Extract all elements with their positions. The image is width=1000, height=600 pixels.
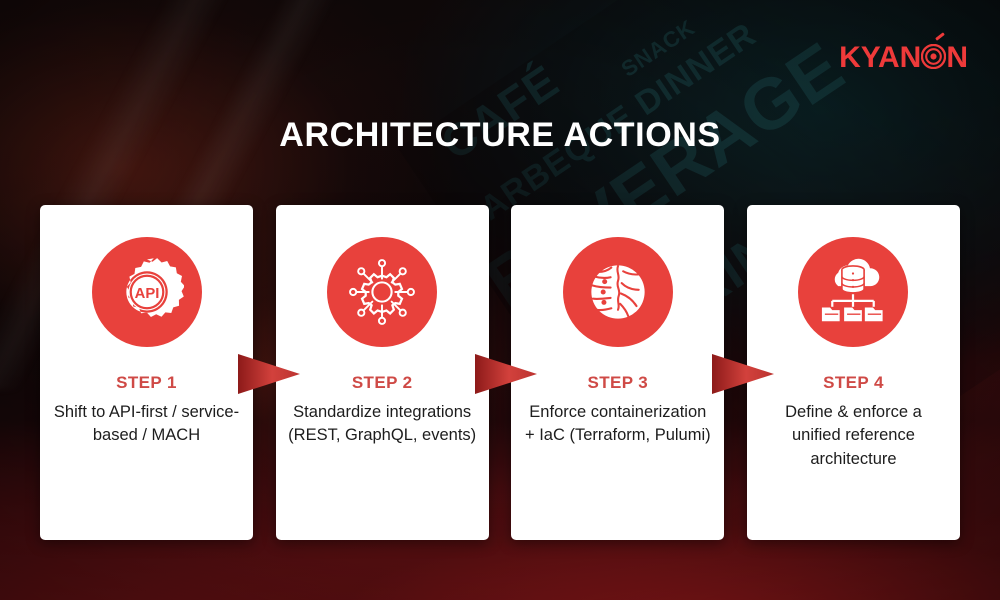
target-bullseye-icon: [921, 44, 946, 69]
slide-canvas: CAFÉ SNACK BARBEQUE DINNER BEVERAGE BAR …: [0, 0, 1000, 600]
step-card-4[interactable]: STEP 4 Define & enforce a unified refere…: [747, 205, 960, 540]
step-label: STEP 3: [587, 373, 648, 393]
step-label: STEP 2: [352, 373, 413, 393]
cloud-database-hierarchy-icon: [798, 237, 908, 347]
page-title: ARCHITECTURE ACTIONS: [0, 116, 1000, 155]
logo-text-after: N: [946, 43, 968, 73]
step-card-3[interactable]: STEP 3 Enforce containerization + IaC (T…: [511, 205, 724, 540]
api-gear-icon: API: [92, 237, 202, 347]
logo-wordmark: KYAN N: [839, 42, 968, 73]
step-card-2[interactable]: STEP 2 Standardize integrations (REST, G…: [276, 205, 489, 540]
step-body: Standardize integrations (REST, GraphQL,…: [288, 401, 477, 448]
container-split-globe-icon: [563, 237, 673, 347]
step-label: STEP 4: [823, 373, 884, 393]
kyanon-logo[interactable]: KYAN N: [839, 42, 968, 73]
svg-text:API: API: [134, 286, 159, 302]
step-body: Enforce containerization + IaC (Terrafor…: [523, 401, 712, 448]
logo-text-before: KYAN: [839, 43, 921, 73]
integration-network-hub-icon: [327, 237, 437, 347]
step-body: Shift to API-first / service-based / MAC…: [52, 401, 241, 448]
step-card-1[interactable]: API STEP 1 Shift to API-first / service-…: [40, 205, 253, 540]
steps-row: API STEP 1 Shift to API-first / service-…: [40, 205, 960, 540]
step-body: Define & enforce a unified reference arc…: [759, 401, 948, 471]
step-label: STEP 1: [116, 373, 177, 393]
